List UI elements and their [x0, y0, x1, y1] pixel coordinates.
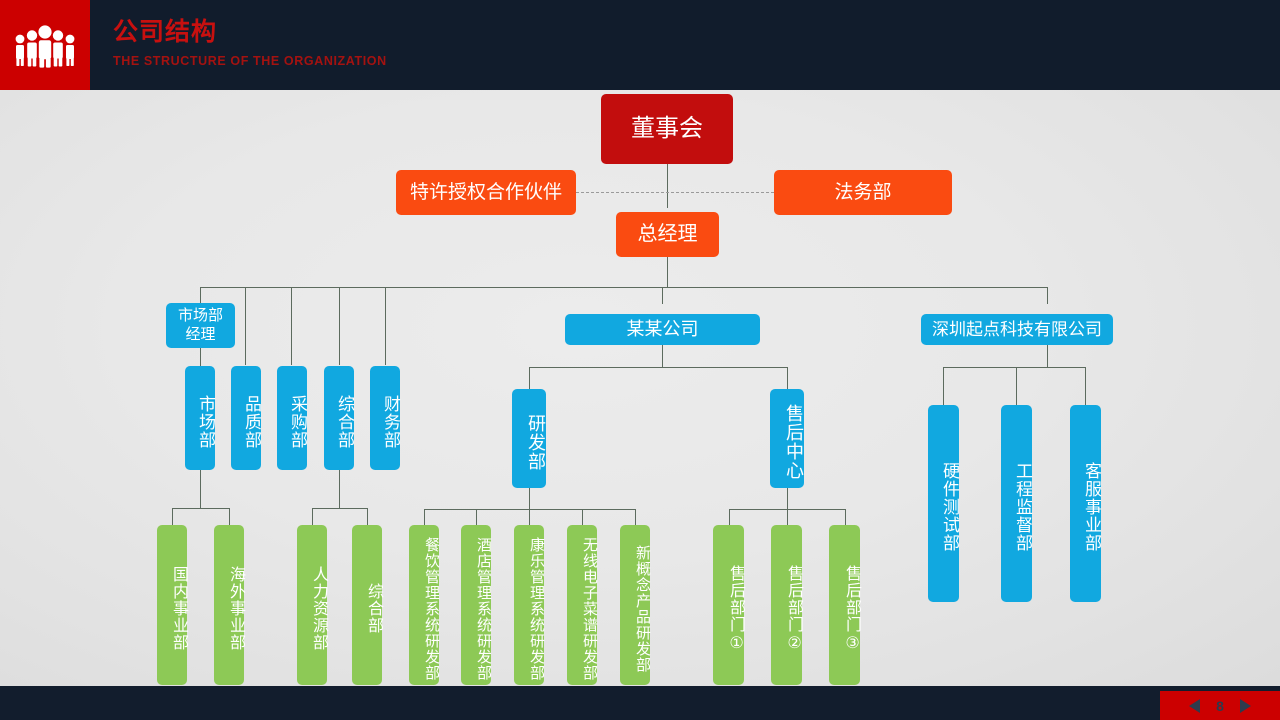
page-title: 公司结构: [113, 20, 217, 45]
connector-drop-rnd-1: [424, 509, 425, 525]
connector-drop-quality: [245, 287, 246, 365]
node-marketing-manager[interactable]: 市场部 经理: [166, 303, 235, 348]
connector-drop-rnd-5: [635, 509, 636, 525]
node-dept-catering-rnd[interactable]: 餐饮管理系统研发部: [409, 525, 439, 685]
node-company[interactable]: 某某公司: [565, 314, 760, 345]
node-dept-marketing[interactable]: 市场部: [185, 366, 215, 470]
connector-drop-rnd-2: [476, 509, 477, 525]
node-board-of-directors[interactable]: 董事会: [601, 94, 733, 164]
people-group-icon: [11, 22, 79, 68]
connector-dashed-lateral: [576, 192, 774, 193]
connector-drop-purchasing: [291, 287, 292, 365]
node-dept-finance[interactable]: 财务部: [370, 366, 400, 470]
connector-shenzhen-bus: [1047, 345, 1048, 367]
node-dept-wireless-menu-rnd[interactable]: 无线电子菜谱研发部: [567, 525, 597, 685]
node-dept-recreation-rnd[interactable]: 康乐管理系统研发部: [514, 525, 544, 685]
node-legal-department[interactable]: 法务部: [774, 170, 952, 215]
connector-drop-customer: [1085, 367, 1086, 405]
org-chart-canvas: 董事会 特许授权合作伙伴 法务部 总经理 市场部 经理 某某公司 深圳起点科技有…: [0, 90, 1280, 686]
connector-company-bus: [662, 345, 663, 367]
connector-drop-shenzhen: [1047, 287, 1048, 304]
connector-drop-aftersales: [787, 367, 788, 389]
connector-marketing-bar: [172, 508, 229, 509]
connector-main-bus: [200, 287, 1048, 288]
slide-pager: 8: [1160, 691, 1280, 720]
connector-drop-as-3: [845, 509, 846, 525]
node-dept-general-office[interactable]: 综合部: [352, 525, 382, 685]
node-franchise-partner[interactable]: 特许授权合作伙伴: [396, 170, 576, 215]
node-dept-human-resources[interactable]: 人力资源部: [297, 525, 327, 685]
connector-drop-rnd-4: [582, 509, 583, 525]
connector-drop-admin: [367, 508, 368, 525]
connector-drop-as-2: [787, 509, 788, 525]
node-dept-rnd[interactable]: 研发部: [512, 389, 546, 488]
connector-drop-general: [339, 287, 340, 365]
connector-company-bar: [529, 367, 787, 368]
node-dept-hardware-test[interactable]: 硬件测试部: [928, 405, 959, 602]
node-marketing-manager-line1: 市场部: [178, 307, 223, 326]
connector-aftersales-down: [787, 488, 788, 509]
connector-drop-hardware: [943, 367, 944, 405]
connector-general-down: [339, 470, 340, 508]
node-dept-hotel-rnd[interactable]: 酒店管理系统研发部: [461, 525, 491, 685]
node-dept-purchasing[interactable]: 采购部: [277, 366, 307, 470]
connector-general-bar: [312, 508, 367, 509]
node-dept-general-affairs[interactable]: 综合部: [324, 366, 354, 470]
connector-drop-rnd: [529, 367, 530, 389]
connector-mm-marketing: [200, 348, 201, 366]
connector-board-gm: [667, 164, 668, 208]
connector-drop-finance: [385, 287, 386, 365]
connector-drop-overseas: [229, 508, 230, 525]
connector-drop-rnd-3: [529, 509, 530, 525]
connector-drop-hr: [312, 508, 313, 525]
connector-rnd-down: [529, 488, 530, 509]
connector-drop-domestic: [172, 508, 173, 525]
logo-block: [0, 0, 90, 90]
node-dept-aftersales-1[interactable]: 售后部门①: [713, 525, 744, 685]
triangle-left-icon[interactable]: [1189, 699, 1200, 713]
node-dept-new-concept-rnd[interactable]: 新概念产品研发部: [620, 525, 650, 685]
node-dept-aftersales-2[interactable]: 售后部门②: [771, 525, 802, 685]
node-dept-customer-service[interactable]: 客服事业部: [1070, 405, 1101, 602]
triangle-right-icon[interactable]: [1240, 699, 1251, 713]
node-dept-engineering-supervision[interactable]: 工程监督部: [1001, 405, 1032, 602]
node-dept-overseas-business[interactable]: 海外事业部: [214, 525, 244, 685]
connector-drop-as-1: [729, 509, 730, 525]
page-number: 8: [1216, 699, 1224, 713]
connector-shenzhen-bar: [943, 367, 1085, 368]
node-general-manager[interactable]: 总经理: [616, 212, 719, 257]
node-dept-aftersales-center[interactable]: 售后中心: [770, 389, 804, 488]
node-dept-quality[interactable]: 品质部: [231, 366, 261, 470]
node-marketing-manager-line2: 经理: [185, 326, 215, 345]
slide-footer: [0, 686, 1280, 720]
slide: 公司结构 THE STRUCTURE OF THE ORGANIZATION: [0, 0, 1280, 720]
connector-gm-bus: [667, 257, 668, 288]
slide-header: 公司结构 THE STRUCTURE OF THE ORGANIZATION: [0, 0, 1280, 90]
node-dept-aftersales-3[interactable]: 售后部门③: [829, 525, 860, 685]
connector-drop-company: [662, 287, 663, 304]
page-subtitle: THE STRUCTURE OF THE ORGANIZATION: [113, 55, 387, 68]
node-dept-domestic-business[interactable]: 国内事业部: [157, 525, 187, 685]
node-shenzhen-company[interactable]: 深圳起点科技有限公司: [921, 314, 1113, 345]
connector-marketing-down: [200, 470, 201, 508]
connector-drop-engineering: [1016, 367, 1017, 405]
